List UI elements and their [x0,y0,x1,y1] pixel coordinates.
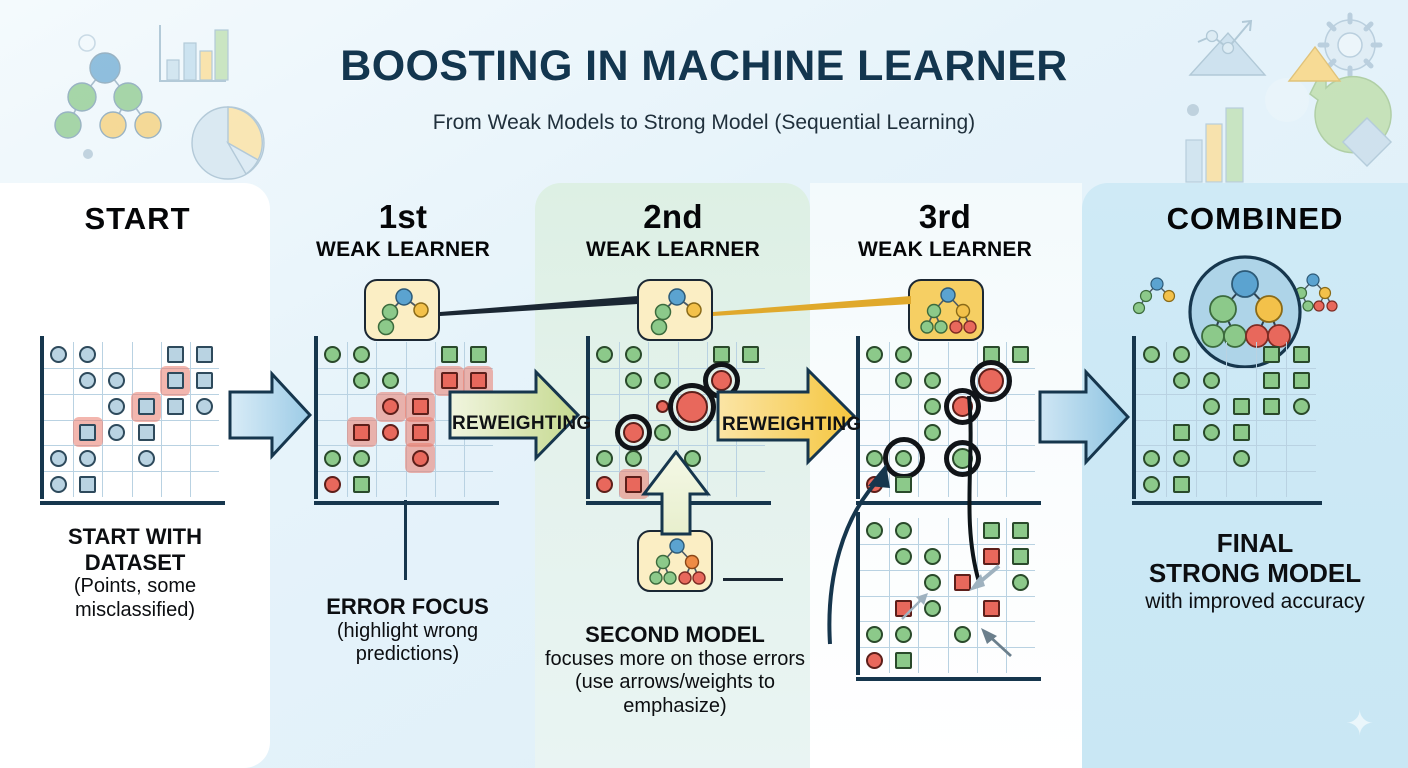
decision-tree-icon [639,281,715,343]
data-point-circle-red [382,424,399,441]
data-point-square-blue [138,398,155,415]
data-point-square-blue [138,424,155,441]
data-point-circle-green [1173,450,1190,467]
data-point-circle-green [1143,450,1160,467]
gridline-vertical [1256,342,1257,497]
data-point-square-blue [196,372,213,389]
header: BOOSTING IN MACHINE LEARNER From Weak Mo… [0,0,1408,183]
infographic-canvas: BOOSTING IN MACHINE LEARNER From Weak Mo… [0,0,1408,768]
caption-combined-line2: STRONG MODEL [1110,558,1400,588]
data-point-circle-blue [79,346,96,363]
pointer-arrow-medium [955,560,1003,602]
data-point-circle-green [324,450,341,467]
data-point-circle-blue [50,476,67,493]
gridline-vertical [161,342,162,497]
data-point-square-green [1293,346,1310,363]
flow-arrow-start-to-first [228,370,312,460]
data-point-square-red [353,424,370,441]
data-point-circle-blue [50,346,67,363]
data-point-square-green [1263,398,1280,415]
caption-first-line3: predictions) [295,643,520,667]
step-heading-first-sub: WEAK LEARNER [303,239,503,260]
data-point-circle-green [1203,424,1220,441]
gridline-vertical [190,342,191,497]
data-point-square-green [1233,398,1250,415]
data-point-circle-blue [79,450,96,467]
data-point-circle-green [1173,346,1190,363]
caption-start-line2: DATASET [20,550,250,576]
caption-second-line4: emphasize) [520,695,830,719]
data-point-square-green [1012,346,1029,363]
flow-arrow-second-model-upward [638,450,714,536]
data-point-square-green [895,652,912,669]
sparkle-icon: ✦ [1346,704,1375,744]
step-heading-second-sub: WEAK LEARNER [573,239,773,260]
step-heading-third-sub: WEAK LEARNER [845,239,1045,260]
data-point-square-green [470,346,487,363]
data-point-square-blue [167,346,184,363]
data-point-circle-green [1293,398,1310,415]
data-point-circle-green [382,372,399,389]
data-point-square-green [1263,372,1280,389]
caption-start-line4: misclassified) [20,599,250,623]
tree-link-second-model-dash [723,578,783,581]
step-heading-start: START [35,203,240,234]
data-point-square-green [353,476,370,493]
step-heading-second: 2nd WEAK LEARNER [573,200,773,260]
data-point-square-green [1173,476,1190,493]
data-point-circle-red [324,476,341,493]
data-point-square-green [742,346,759,363]
caption-start-line3: (Points, some [20,575,250,599]
caption-first-line1: ERROR FOCUS [295,594,520,620]
pointer-arrow-small-right [965,618,1017,662]
data-point-circle-green [1143,476,1160,493]
data-point-circle-blue [108,424,125,441]
data-point-square-blue [79,476,96,493]
caption-second: SECOND MODEL focuses more on those error… [520,622,830,718]
tree-badge-second-model[interactable] [637,530,713,592]
caption-first-line2: (highlight wrong [295,620,520,644]
data-point-square-blue [167,398,184,415]
caption-start: START WITH DATASET (Points, some misclas… [20,524,250,622]
gridline-vertical [1226,342,1227,497]
decision-tree-icon [366,281,442,343]
data-point-circle-red [676,391,708,423]
gridline-vertical [1286,342,1287,497]
data-point-square-green [1233,424,1250,441]
data-point-square-blue [79,424,96,441]
data-point-circle-green [596,450,613,467]
step-heading-second-number: 2nd [573,200,773,233]
scatter-plot-combined-final [1136,342,1316,497]
data-point-square-red [412,424,429,441]
small-tree-left-icon [1134,278,1175,314]
data-point-circle-green [895,346,912,363]
axis-x [40,501,225,505]
data-point-circle-blue [196,398,213,415]
page-title: BOOSTING IN MACHINE LEARNER [0,42,1408,91]
data-point-circle-red [596,476,613,493]
axis-x [856,677,1041,681]
data-point-square-green [1173,424,1190,441]
caption-stem-error-focus [404,500,407,580]
flow-arrow-label-reweighting-1: REWEIGHTING [452,413,591,435]
data-point-square-green [441,346,458,363]
decision-tree-icon [910,281,986,343]
data-point-square-green [713,346,730,363]
step-heading-combined: COMBINED [1110,203,1400,234]
step-heading-third: 3rd WEAK LEARNER [845,200,1045,260]
axis-y [314,336,318,499]
gridline-vertical [435,342,436,497]
decision-tree-icon [639,532,715,594]
data-point-square-blue [167,372,184,389]
data-point-circle-green [654,424,671,441]
step-heading-first: 1st WEAK LEARNER [303,200,503,260]
data-point-circle-green [1233,450,1250,467]
caption-second-line2: focuses more on those errors [520,648,830,672]
scatter-plot-start-dataset [44,342,219,497]
caption-second-line3: (use arrows/weights to [520,671,830,695]
data-point-circle-blue [108,398,125,415]
data-point-square-green [1263,346,1280,363]
caption-combined: FINAL STRONG MODEL with improved accurac… [1110,528,1400,615]
data-point-circle-green [866,346,883,363]
page-subtitle: From Weak Models to Strong Model (Sequen… [0,111,1408,135]
data-point-square-green [1293,372,1310,389]
flow-arrow-third-to-combined [1038,368,1130,466]
data-point-circle-green [353,450,370,467]
caption-second-line1: SECOND MODEL [520,622,830,648]
data-point-square-blue [196,346,213,363]
axis-y [1132,336,1136,499]
data-point-circle-blue [108,372,125,389]
data-point-circle-blue [138,450,155,467]
data-point-circle-green [654,372,671,389]
caption-combined-line3: with improved accuracy [1110,590,1400,615]
step-heading-first-number: 1st [303,200,503,233]
pointer-arrow-small-left [898,585,940,625]
step-heading-third-number: 3rd [845,200,1045,233]
data-point-circle-red [623,422,644,443]
data-point-circle-green [895,372,912,389]
gridline-vertical [1196,342,1197,497]
gridline-vertical [918,342,919,497]
axis-y [40,336,44,499]
data-point-circle-green [353,346,370,363]
data-point-circle-green [324,346,341,363]
caption-first: ERROR FOCUS (highlight wrong predictions… [295,594,520,667]
tree-badge-first[interactable] [364,279,440,341]
tree-badge-second[interactable] [637,279,713,341]
data-point-square-red [412,398,429,415]
data-point-circle-red [866,652,883,669]
caption-start-line1: START WITH [20,524,250,550]
tree-badge-third[interactable] [908,279,984,341]
data-point-circle-green [353,372,370,389]
data-point-circle-green [625,372,642,389]
data-point-circle-green [1203,398,1220,415]
data-point-circle-blue [79,372,96,389]
data-point-circle-green [1143,346,1160,363]
caption-combined-line1: FINAL [1110,528,1400,558]
data-point-circle-blue [50,450,67,467]
tree-link-second-to-third [711,292,915,318]
curved-arrow-second-to-third [790,420,900,650]
axis-x [1132,501,1322,505]
data-point-circle-green [1203,372,1220,389]
data-point-circle-green [1173,372,1190,389]
gridline-vertical [1166,342,1167,497]
tree-link-first-to-second [438,292,642,318]
data-point-circle-red [412,450,429,467]
data-point-circle-green [924,372,941,389]
data-point-circle-green [625,346,642,363]
data-point-circle-green [596,346,613,363]
